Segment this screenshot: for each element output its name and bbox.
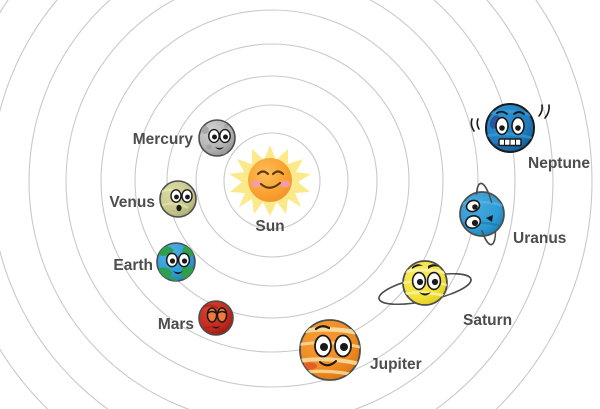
uranus-pupil-left — [472, 204, 478, 210]
uranus-pupil-right — [472, 220, 478, 226]
scene-svg: Sun Mercury Venus — [0, 0, 600, 409]
jupiter-pupil-left — [320, 343, 328, 351]
neptune-pupil-left — [499, 125, 505, 131]
uranus-label: Uranus — [513, 230, 566, 247]
planet-mars[interactable]: Mars — [158, 301, 233, 335]
solar-system-diagram: Sun Mercury Venus — [0, 0, 600, 409]
mercury-pupil-right — [223, 135, 228, 140]
planet-earth[interactable]: Earth — [113, 243, 195, 283]
uranus-body — [460, 192, 504, 236]
orbit-ring-9 — [0, 0, 592, 409]
saturn-pupil-left — [417, 279, 423, 285]
planet-jupiter[interactable]: Jupiter — [296, 320, 422, 380]
mercury-label: Mercury — [133, 131, 194, 148]
sun-cheek-right — [280, 180, 290, 187]
mars-label: Mars — [158, 316, 194, 333]
venus-mouth — [176, 205, 181, 211]
neptune-label: Neptune — [528, 155, 590, 172]
neptune-gritted-teeth — [499, 139, 521, 146]
planet-neptune[interactable]: Neptune — [471, 104, 590, 172]
earth-pupil-right — [182, 258, 187, 263]
jupiter-label: Jupiter — [370, 356, 422, 373]
planet-venus[interactable]: Venus — [109, 181, 196, 217]
sun-label: Sun — [255, 218, 284, 235]
venus-pupil-right — [185, 195, 190, 200]
earth-pupil-left — [170, 258, 175, 263]
venus-label: Venus — [109, 194, 155, 211]
saturn-pupil-right — [432, 279, 438, 285]
earth-label: Earth — [113, 257, 153, 274]
sun-cheek-left — [251, 180, 261, 187]
mars-eye-right-white — [217, 308, 226, 322]
neptune-pupil-right — [515, 125, 521, 131]
mars-eye-left-white — [207, 308, 216, 322]
planet-saturn[interactable]: Saturn — [377, 261, 513, 329]
orbit-rings — [0, 0, 592, 409]
mercury-pupil-left — [212, 135, 217, 140]
jupiter-pupil-right — [340, 343, 348, 351]
planet-mercury[interactable]: Mercury — [133, 120, 235, 156]
saturn-label: Saturn — [463, 312, 512, 329]
sun-body — [248, 158, 292, 202]
neptune-shiver-lines-left — [471, 119, 479, 131]
venus-pupil-left — [174, 195, 179, 200]
